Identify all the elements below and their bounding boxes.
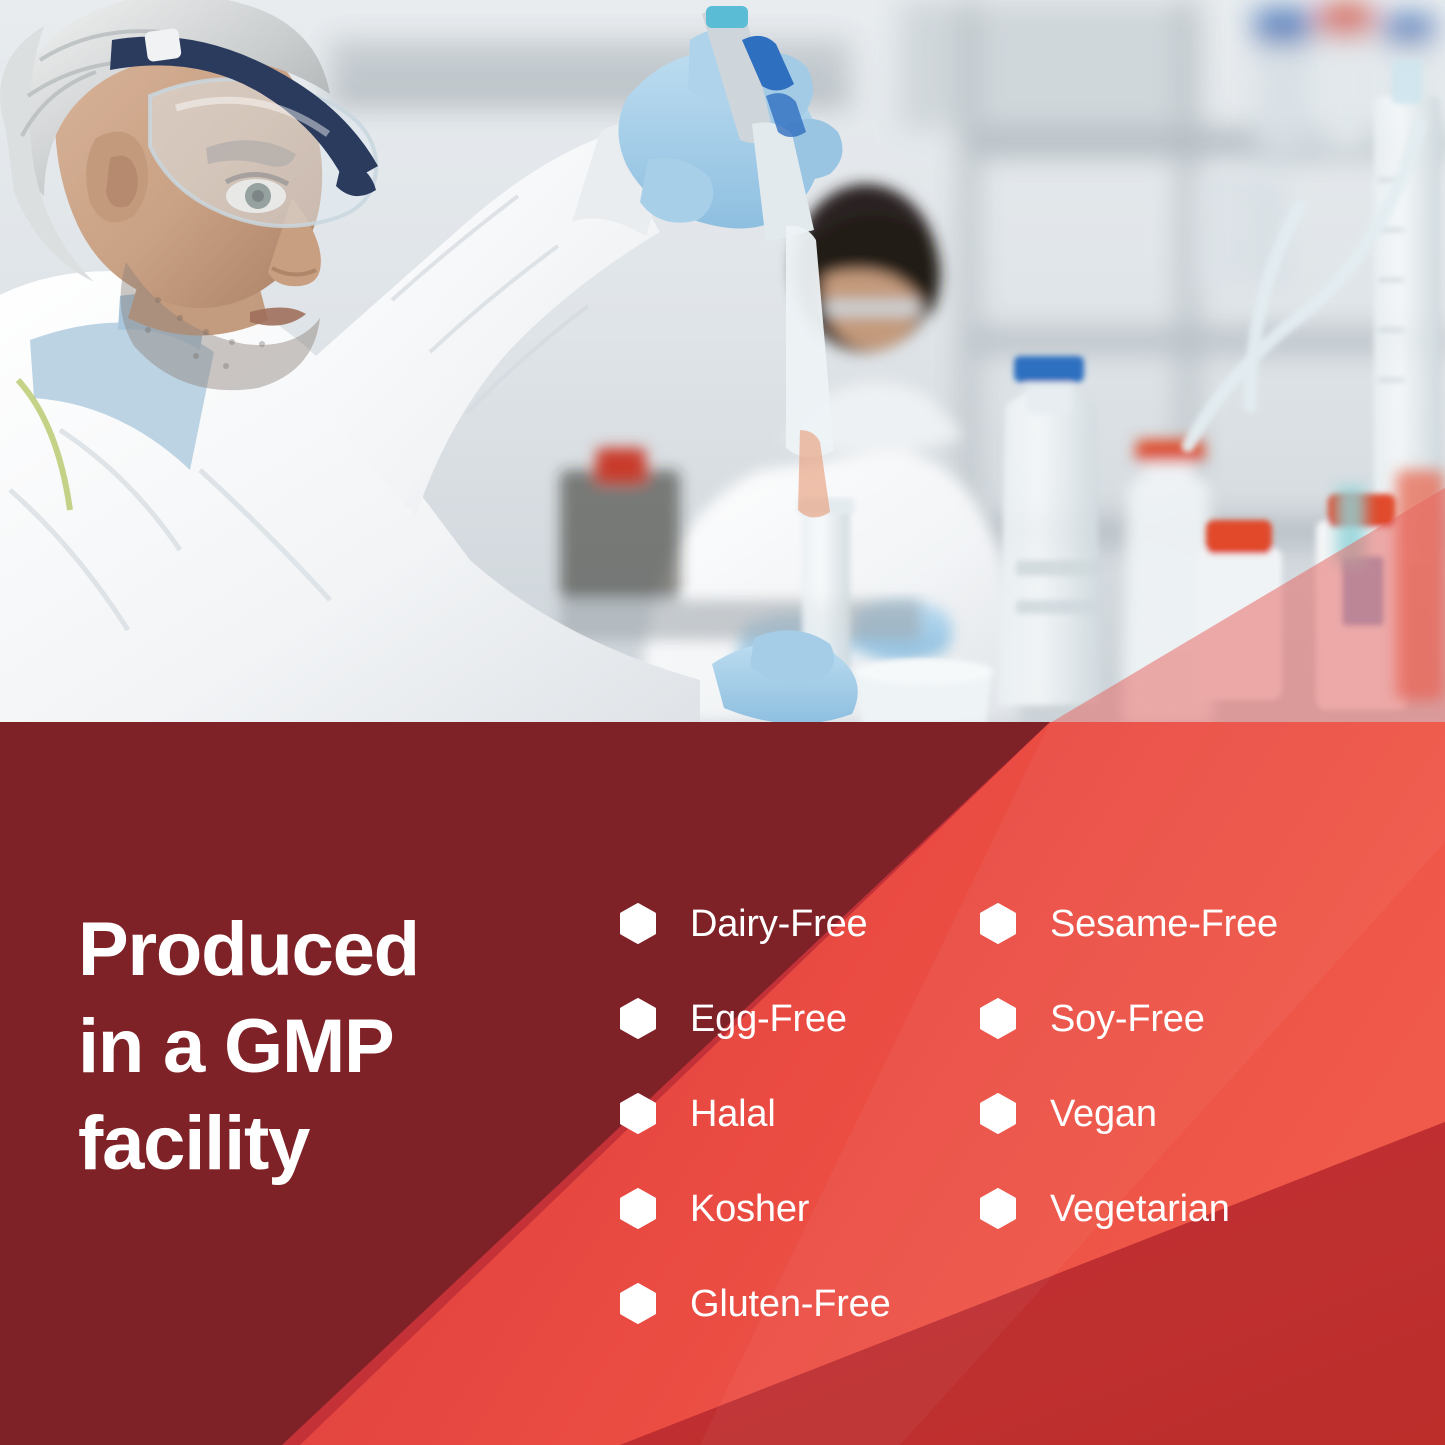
list-item-label: Egg-Free bbox=[690, 1000, 847, 1038]
list-item-label: Sesame-Free bbox=[1050, 905, 1278, 943]
hexagon-icon bbox=[978, 998, 1018, 1039]
list-item: Sesame-Free bbox=[978, 876, 1278, 971]
list-item: Vegan bbox=[978, 1066, 1278, 1161]
list-item-label: Dairy-Free bbox=[690, 905, 867, 943]
hexagon-icon bbox=[978, 903, 1018, 944]
headline-line-1: Produced bbox=[78, 901, 598, 998]
hexagon-icon bbox=[978, 1188, 1018, 1229]
headline-line-2: in a GMP bbox=[78, 998, 598, 1095]
list-item: Egg-Free bbox=[618, 971, 891, 1066]
list-item-label: Vegan bbox=[1050, 1095, 1157, 1133]
lab-photo-illustration bbox=[0, 0, 1445, 723]
hexagon-icon bbox=[618, 1093, 658, 1134]
hexagon-icon bbox=[618, 903, 658, 944]
list-item-label: Soy-Free bbox=[1050, 1000, 1205, 1038]
certification-list-right: Sesame-Free Soy-Free Vegan Vegetarian bbox=[978, 876, 1278, 1256]
hexagon-icon bbox=[618, 1283, 658, 1324]
certification-list-left: Dairy-Free Egg-Free Halal Kosher Gluten-… bbox=[618, 876, 891, 1351]
list-item-label: Kosher bbox=[690, 1190, 809, 1228]
list-item-label: Vegetarian bbox=[1050, 1190, 1230, 1228]
list-item: Kosher bbox=[618, 1161, 891, 1256]
list-item: Vegetarian bbox=[978, 1161, 1278, 1256]
list-item-label: Halal bbox=[690, 1095, 776, 1133]
red-info-panel: Produced in a GMP facility Dairy-Free Eg… bbox=[0, 722, 1445, 1445]
headline-line-3: facility bbox=[78, 1095, 598, 1192]
list-item: Soy-Free bbox=[978, 971, 1278, 1066]
list-item: Dairy-Free bbox=[618, 876, 891, 971]
hexagon-icon bbox=[618, 998, 658, 1039]
list-item: Gluten-Free bbox=[618, 1256, 891, 1351]
lab-photo bbox=[0, 0, 1445, 723]
poster-root: Produced in a GMP facility Dairy-Free Eg… bbox=[0, 0, 1445, 1445]
hexagon-icon bbox=[618, 1188, 658, 1229]
list-item-label: Gluten-Free bbox=[690, 1285, 891, 1323]
page-title: Produced in a GMP facility bbox=[78, 901, 598, 1193]
list-item: Halal bbox=[618, 1066, 891, 1161]
hexagon-icon bbox=[978, 1093, 1018, 1134]
